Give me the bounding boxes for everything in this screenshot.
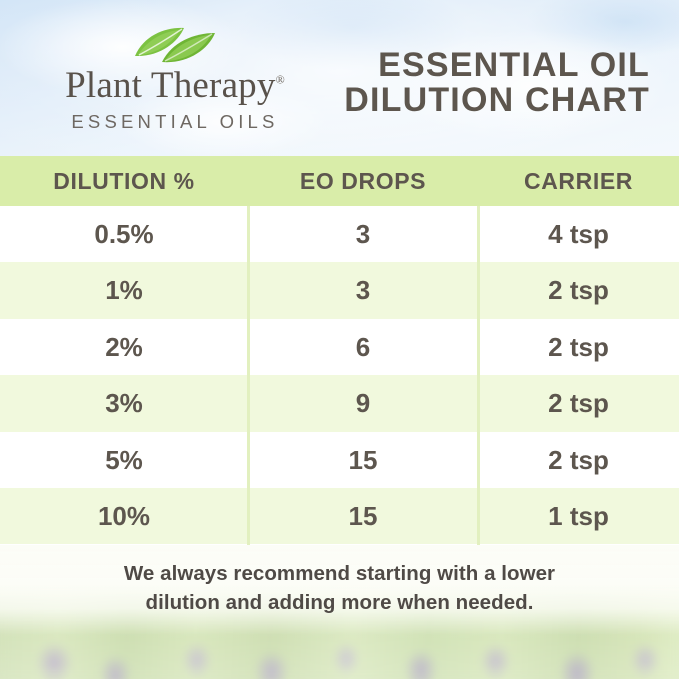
cell-drops: 3	[248, 206, 478, 262]
cell-drops: 3	[248, 262, 478, 318]
cell-drops: 9	[248, 375, 478, 431]
table-row: 5% 15 2 tsp	[0, 432, 679, 488]
registered-mark: ®	[276, 73, 285, 87]
cell-drops: 15	[248, 432, 478, 488]
title-line-2: DILUTION CHART	[330, 83, 650, 118]
cell-dilution: 5%	[0, 432, 248, 488]
brand-logo: Plant Therapy® ESSENTIAL OILS	[40, 26, 310, 133]
cell-carrier: 2 tsp	[478, 319, 679, 375]
cell-carrier: 4 tsp	[478, 206, 679, 262]
column-header-drops: EO DROPS	[248, 156, 478, 206]
brand-name-text: Plant Therapy	[65, 65, 276, 106]
table-row: 0.5% 3 4 tsp	[0, 206, 679, 262]
table-header-row: DILUTION % EO DROPS CARRIER	[0, 156, 679, 206]
table-row: 2% 6 2 tsp	[0, 319, 679, 375]
cell-carrier: 1 tsp	[478, 488, 679, 544]
cell-dilution: 3%	[0, 375, 248, 431]
cell-dilution: 0.5%	[0, 206, 248, 262]
title-line-1: ESSENTIAL OIL	[330, 48, 650, 83]
brand-name: Plant Therapy®	[65, 67, 285, 104]
dilution-table: DILUTION % EO DROPS CARRIER 0.5% 3 4 tsp…	[0, 156, 679, 545]
footer-note-line-1: We always recommend starting with a lowe…	[0, 559, 679, 588]
cell-carrier: 2 tsp	[478, 262, 679, 318]
column-header-dilution: DILUTION %	[0, 156, 248, 206]
footer-note: We always recommend starting with a lowe…	[0, 559, 679, 617]
cell-carrier: 2 tsp	[478, 432, 679, 488]
column-header-carrier: CARRIER	[478, 156, 679, 206]
column-divider-2	[477, 206, 480, 545]
table-row: 3% 9 2 tsp	[0, 375, 679, 431]
cell-drops: 15	[248, 488, 478, 544]
cell-dilution: 2%	[0, 319, 248, 375]
brand-subtitle: ESSENTIAL OILS	[40, 111, 310, 133]
table-row: 10% 15 1 tsp	[0, 488, 679, 544]
dilution-chart-page: Plant Therapy® ESSENTIAL OILS ESSENTIAL …	[0, 0, 679, 679]
cell-dilution: 1%	[0, 262, 248, 318]
table-row: 1% 3 2 tsp	[0, 262, 679, 318]
leaf-icon	[132, 26, 218, 66]
column-divider-1	[247, 206, 250, 545]
cell-dilution: 10%	[0, 488, 248, 544]
footer-note-area: We always recommend starting with a lowe…	[0, 545, 679, 679]
page-title: ESSENTIAL OIL DILUTION CHART	[330, 48, 650, 119]
cell-carrier: 2 tsp	[478, 375, 679, 431]
footer-note-line-2: dilution and adding more when needed.	[0, 588, 679, 617]
cell-drops: 6	[248, 319, 478, 375]
